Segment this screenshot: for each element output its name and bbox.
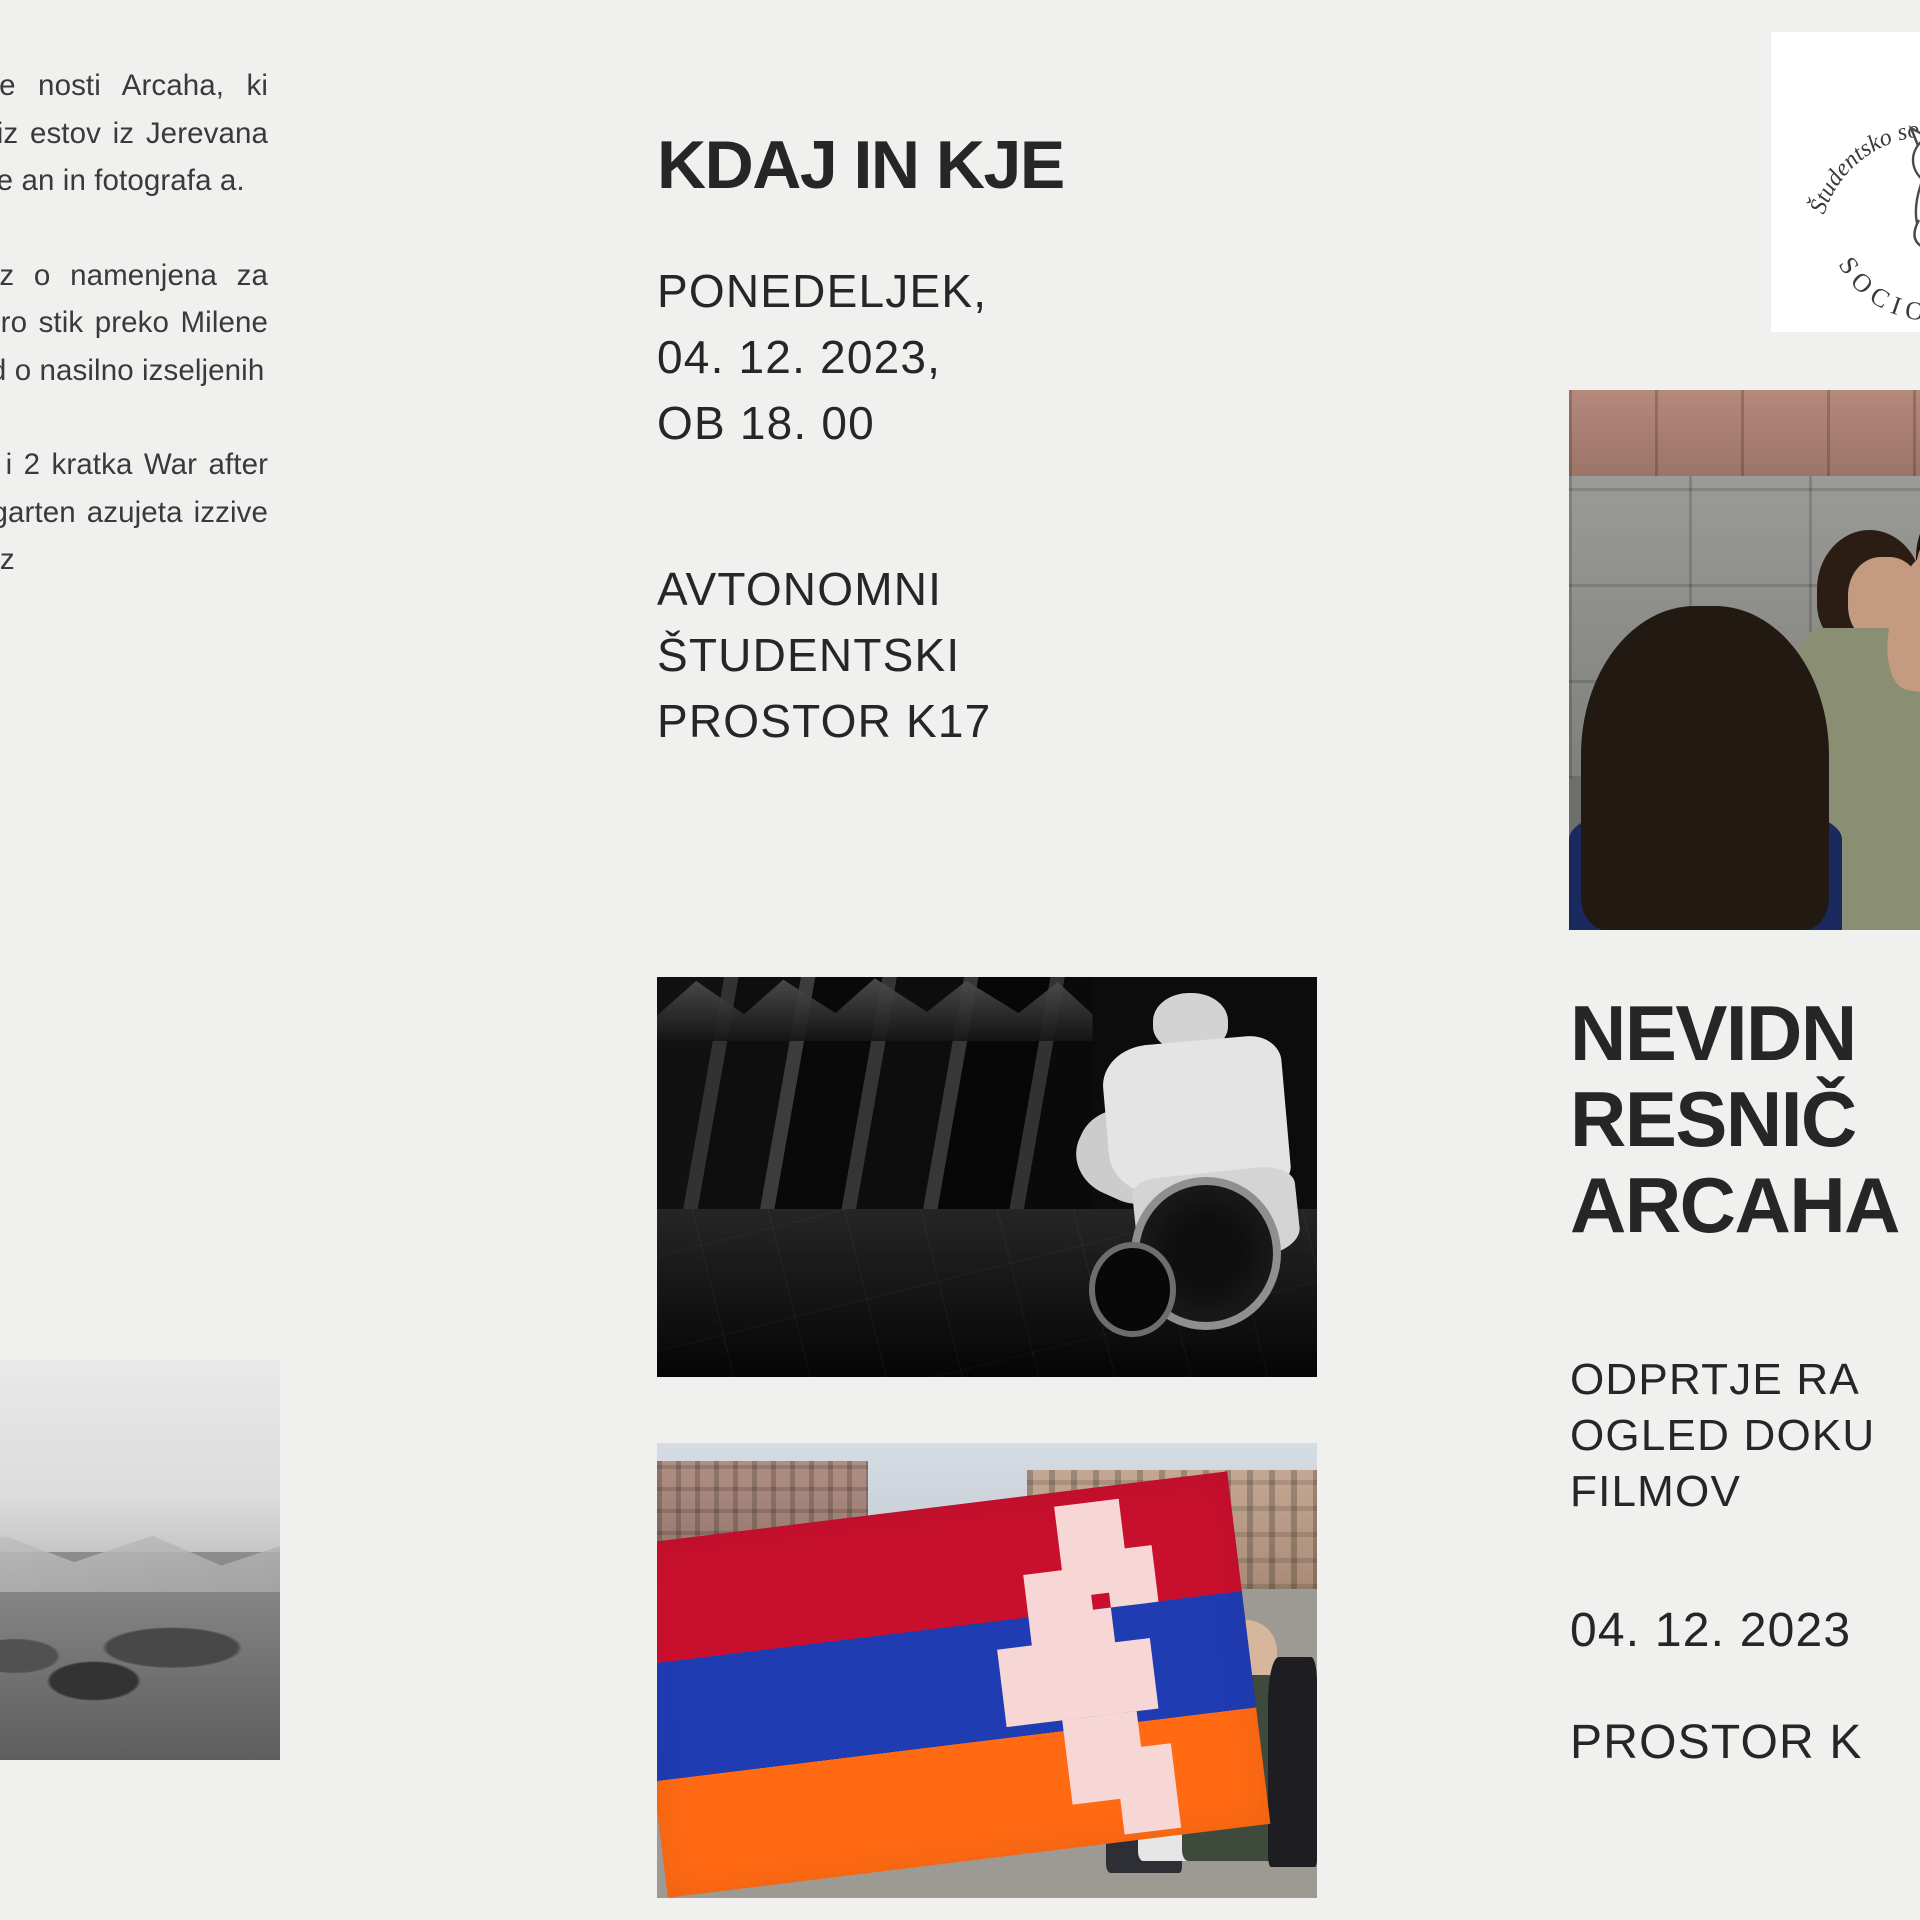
center-venue-line-3: PROSTOR K17 [657, 688, 1317, 754]
center-date-line-1: PONEDELJEK, [657, 258, 1317, 324]
right-subtitle-line-2: OGLED DOKU [1570, 1408, 1920, 1464]
mountain-shape [0, 1504, 280, 1592]
women-by-wall-photo [1569, 390, 1920, 930]
right-subtitle: ODPRTJE RA OGLED DOKU FILMOV [1570, 1352, 1920, 1520]
left-paragraph-3: zstave si bomo i 2 kratka War after war … [0, 441, 268, 584]
svg-text:Študentsko sociolo: Študentsko sociolo [1804, 116, 1920, 217]
right-date-line-1: 04. 12. 2023 [1570, 1575, 1920, 1687]
bw-wheelchair-riot-shields-photo [657, 977, 1317, 1377]
cat-mascot-icon [1911, 128, 1920, 260]
center-date-line-3: OB 18. 00 [657, 390, 1317, 456]
right-subtitle-line-1: ODPRTJE RA [1570, 1352, 1920, 1408]
right-headline-line-3: ARCAHA [1570, 1162, 1920, 1248]
artsakh-flag-shape [657, 1471, 1270, 1897]
artsakh-flag-rally-photo [657, 1443, 1317, 1898]
svg-text:SOCIOPA: SOCIOPA [1833, 252, 1920, 328]
left-paragraph-1: odprtje razstave nosti Arcaha, ki afije … [0, 62, 268, 205]
wheelchair-person-shape [1013, 993, 1303, 1337]
right-date-line-2: PROSTOR K [1570, 1687, 1920, 1799]
right-headline: NEVIDN RESNIČ ARCAHA [1570, 990, 1920, 1248]
right-date-block: 04. 12. 2023 PROSTOR K [1570, 1575, 1920, 1799]
right-headline-line-1: NEVIDN [1570, 990, 1920, 1076]
center-column: KDAJ IN KJE PONEDELJEK, 04. 12. 2023, OB… [657, 0, 1317, 754]
left-text-column: odprtje razstave nosti Arcaha, ki afije … [0, 0, 290, 1920]
studentsko-sociolosko-sociopat-logo: Študentsko sociolo SOCIOPA [1771, 32, 1920, 332]
center-heading-kdaj-in-kje: KDAJ IN KJE [657, 128, 1317, 202]
center-date-block: PONEDELJEK, 04. 12. 2023, OB 18. 00 [657, 258, 1317, 456]
left-paragraph-2: no tudi kupiti z o namenjena za Vardyan,… [0, 252, 268, 395]
center-date-line-2: 04. 12. 2023, [657, 324, 1317, 390]
right-subtitle-line-3: FILMOV [1570, 1464, 1920, 1520]
right-column: Študentsko sociolo SOCIOPA [1518, 0, 1920, 1920]
poster-canvas: odprtje razstave nosti Arcaha, ki afije … [0, 0, 1920, 1920]
bw-refugee-trucks-photo [0, 1360, 280, 1760]
center-venue-line-1: AVTONOMNI [657, 556, 1317, 622]
left-body-text: odprtje razstave nosti Arcaha, ki afije … [0, 62, 268, 631]
center-venue-line-2: ŠTUDENTSKI [657, 622, 1317, 688]
logo-svg: Študentsko sociolo SOCIOPA [1771, 32, 1920, 332]
center-venue-block: AVTONOMNI ŠTUDENTSKI PROSTOR K17 [657, 556, 1317, 754]
right-headline-line-2: RESNIČ [1570, 1076, 1920, 1162]
